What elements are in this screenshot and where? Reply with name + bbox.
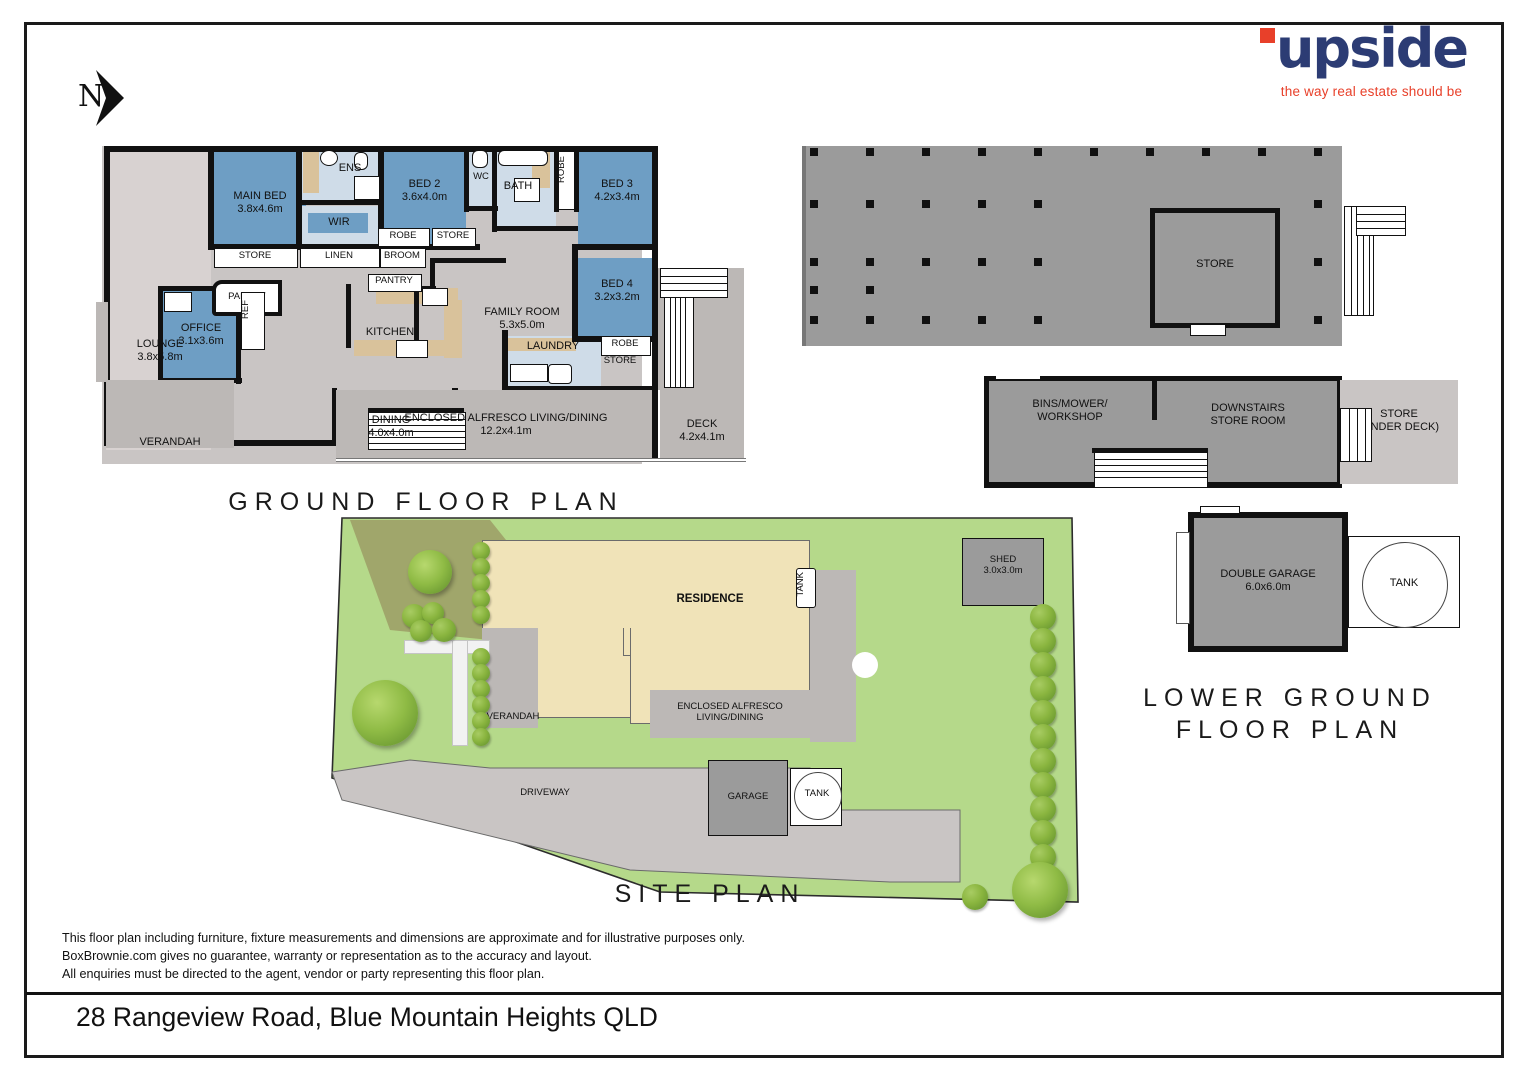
label-site-alfresco: ENCLOSED ALFRESCO LIVING/DINING [650,702,810,724]
room-label-kitchen: KITCHEN [348,326,432,339]
label-site-tank-rear: TANK [796,572,816,597]
label-store-1: STORE [214,251,296,262]
label-lower-store: STORE [1150,258,1280,271]
lower-ground-title-line2: FLOOR PLAN [1020,716,1528,745]
room-label-main-bed: MAIN BED 3.8x4.6m [214,190,306,215]
label-downstairs-store-room: DOWNSTAIRS STORE ROOM [1160,402,1336,427]
label-robe-2: ROBE [557,156,577,183]
boundary-hedge-shrub [1030,604,1056,630]
room-label-office: OFFICE 3.1x3.6m [162,322,240,347]
room-label-family: FAMILY ROOM 5.3x5.0m [468,306,576,331]
shrub-cluster-4 [432,618,456,642]
boundary-hedge-shrub [1030,628,1056,654]
property-address: 28 Rangeview Road, Blue Mountain Heights… [76,1002,658,1033]
boundary-hedge-shrub [1030,676,1056,702]
floor-plan-page: upside the way real estate should be N [0,0,1528,1080]
tree-large-left [352,680,418,746]
boundary-hedge-shrub [1030,700,1056,726]
boundary-hedge-shrub [1030,772,1056,798]
lower-stairs [1094,452,1208,488]
boundary-hedge-shrub [1030,748,1056,774]
label-linen: LINEN [300,251,378,262]
hedge-shrub [472,728,490,746]
room-label-laundry: LAUNDRY [508,340,598,353]
brand-logo: upside the way real estate should be [1249,22,1494,99]
disclaimer-line-3: All enquiries must be directed to the ag… [62,966,745,984]
disclaimer: This floor plan including furniture, fix… [62,930,745,984]
label-broom: BROOM [380,251,424,262]
label-robe-1: ROBE [378,231,428,242]
label-store-2: STORE [432,231,474,242]
boundary-hedge-shrub [1030,820,1056,846]
label-site-shed: SHED 3.0x3.0m [962,555,1044,577]
site-plan-title: SITE PLAN [330,880,1090,909]
room-label-bed2: BED 2 3.6x4.0m [383,178,466,203]
label-pantry-1: PANTRY [368,276,420,287]
disclaimer-line-1: This floor plan including furniture, fix… [62,930,745,948]
shrub-cluster-3 [410,620,432,642]
site-plan: RESIDENCE VERANDAH ENCLOSED ALFRESCO LIV… [330,510,1090,910]
hedge-shrub [472,606,490,624]
brand-name: upside [1276,22,1467,76]
label-site-garage: GARAGE [708,792,788,803]
label-site-tank-front: TANK [794,789,840,800]
room-label-bed4: BED 4 3.2x3.2m [578,278,656,303]
label-store-3: STORE [590,356,650,367]
label-ref: REF [241,300,263,319]
brand-tagline: the way real estate should be [1249,84,1494,99]
label-bins-mower-workshop: BINS/MOWER/ WORKSHOP [990,398,1150,423]
disclaimer-line-2: BoxBrownie.com gives no guarantee, warra… [62,948,745,966]
label-site-driveway: DRIVEWAY [480,788,610,799]
room-label-bed3: BED 3 4.2x3.4m [578,178,656,203]
lower-ground-title-line1: LOWER GROUND [1020,684,1528,713]
label-robe-3: ROBE [601,339,649,350]
boundary-hedge-shrub [1030,652,1056,678]
room-label-verandah: VERANDAH [110,436,230,449]
site-circle-feature [852,652,878,678]
room-label-bath: BATH [496,180,540,193]
label-lower-tank: TANK [1362,577,1446,590]
tree-top-left [408,550,452,594]
boundary-hedge-shrub [1030,724,1056,750]
label-double-garage: DOUBLE GARAGE 6.0x6.0m [1188,568,1348,593]
room-label-deck: DECK 4.2x4.1m [660,418,744,443]
room-label-ens: ENS [322,162,378,175]
north-arrow-icon: N [58,58,138,138]
room-label-alfresco: ENCLOSED ALFRESCO LIVING/DINING 12.2x4.1… [396,412,616,437]
ground-floor-plan: STORE LINEN BROOM ROBE STORE ROBE ROBE S… [96,140,756,470]
logo-red-square-icon [1260,28,1275,43]
room-label-wc: WC [466,172,496,183]
room-label-wir: WIR [310,216,368,229]
boundary-hedge-shrub [1030,796,1056,822]
svg-text:N: N [78,79,104,114]
